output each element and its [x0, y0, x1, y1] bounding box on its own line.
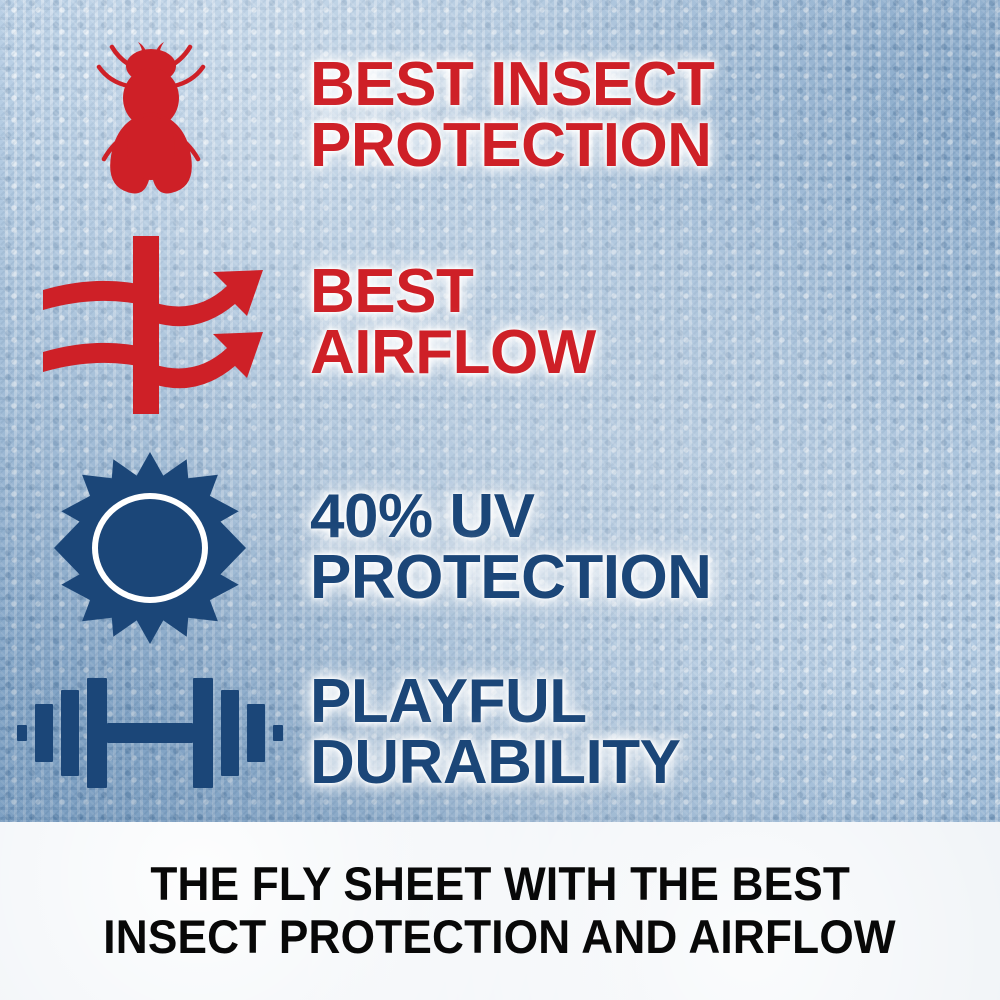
sun-uv-icon — [50, 448, 250, 648]
feature-headline-insect-protection: BEST INSECT PROTECTION — [310, 55, 1000, 177]
fly-icon — [75, 26, 225, 206]
airflow-arrows-icon — [35, 228, 265, 418]
icon-cell-durability — [0, 668, 300, 798]
icon-cell-uv — [0, 448, 300, 648]
caption-line-2: INSECT PROTECTION AND AIRFLOW — [104, 911, 896, 964]
feature-row-durability: PLAYFUL DURABILITY — [0, 650, 1000, 815]
caption-bar: THE FLY SHEET WITH THE BEST INSECT PROTE… — [0, 822, 1000, 1000]
feature-headline-uv-protection: 40% UV PROTECTION — [310, 487, 1000, 609]
feature-headline-durability: PLAYFUL DURABILITY — [310, 672, 1000, 794]
feature-row-uv-protection: 40% UV PROTECTION — [0, 440, 1000, 655]
text-cell-durability: PLAYFUL DURABILITY — [300, 672, 1000, 794]
feature-headline-airflow: BEST AIRFLOW — [310, 262, 1000, 384]
icon-cell-insect — [0, 26, 300, 206]
icon-cell-airflow — [0, 228, 300, 418]
caption-line-1: THE FLY SHEET WITH THE BEST — [150, 858, 850, 911]
text-cell-insect: BEST INSECT PROTECTION — [300, 55, 1000, 177]
text-cell-uv: 40% UV PROTECTION — [300, 487, 1000, 609]
feature-row-insect-protection: BEST INSECT PROTECTION — [0, 18, 1000, 213]
product-feature-infographic: BEST INSECT PROTECTION — [0, 0, 1000, 1000]
dumbbell-icon — [15, 668, 285, 798]
text-cell-airflow: BEST AIRFLOW — [300, 262, 1000, 384]
feature-row-airflow: BEST AIRFLOW — [0, 225, 1000, 420]
